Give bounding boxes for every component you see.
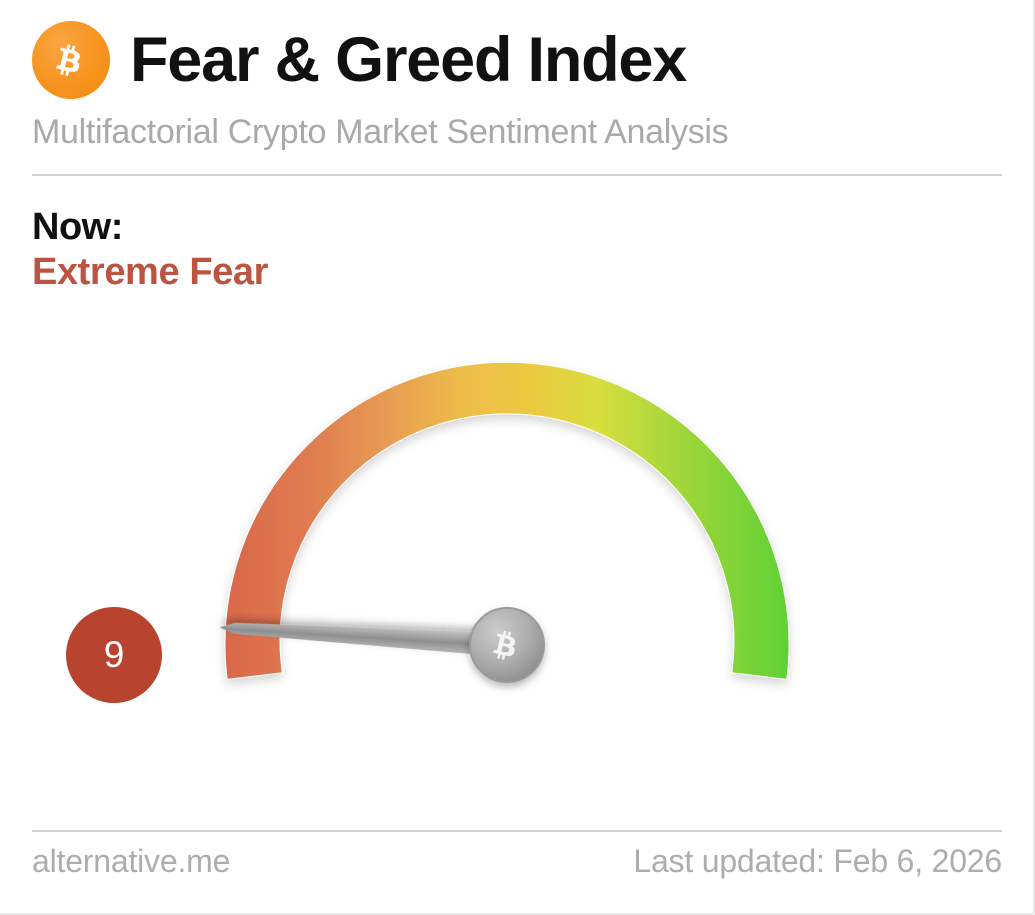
fear-greed-widget: Fear & Greed Index Multifactorial Crypto… <box>0 0 1035 915</box>
footer: alternative.me Last updated: Feb 6, 2026 <box>32 843 1002 880</box>
title-row: Fear & Greed Index <box>32 14 1002 106</box>
status-block: Now: Extreme Fear <box>32 205 268 295</box>
last-updated: Last updated: Feb 6, 2026 <box>633 843 1002 880</box>
gauge <box>0 300 1035 810</box>
footer-divider <box>32 830 1002 832</box>
now-label: Now: <box>32 205 268 250</box>
page-title: Fear & Greed Index <box>130 29 686 92</box>
header: Fear & Greed Index Multifactorial Crypto… <box>32 14 1002 151</box>
status-badge: Extreme Fear <box>32 250 268 295</box>
source-link[interactable]: alternative.me <box>32 843 230 880</box>
gauge-value-badge: 9 <box>66 607 162 703</box>
header-divider <box>32 174 1002 176</box>
bitcoin-icon <box>32 21 110 99</box>
page-subtitle: Multifactorial Crypto Market Sentiment A… <box>32 114 1002 151</box>
